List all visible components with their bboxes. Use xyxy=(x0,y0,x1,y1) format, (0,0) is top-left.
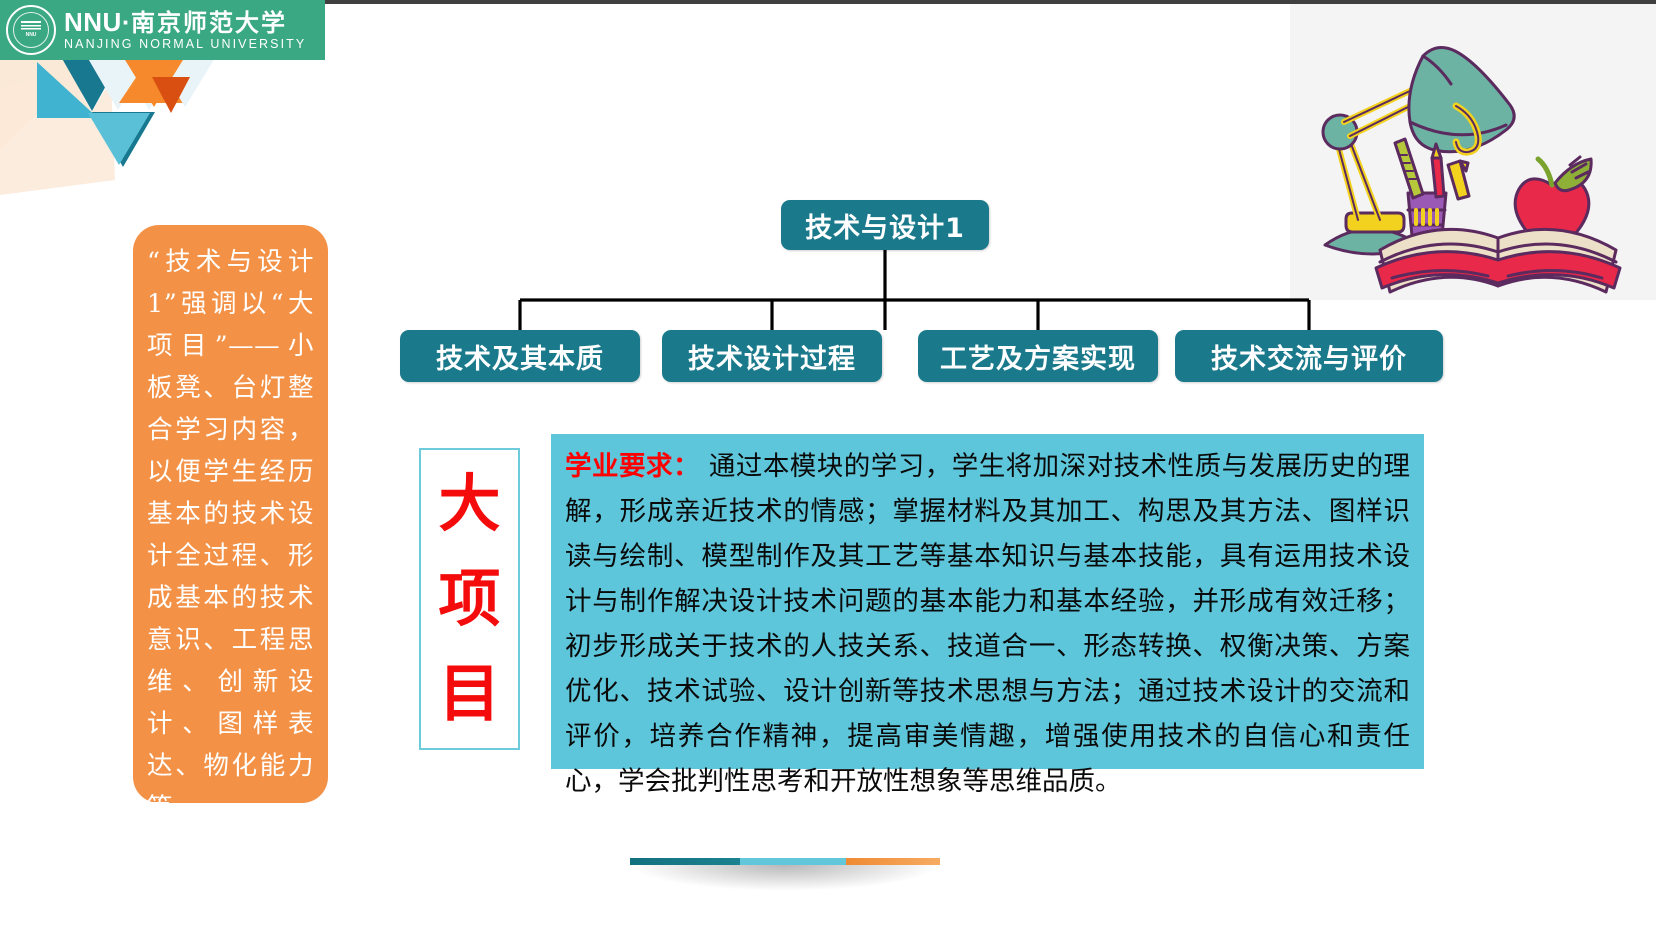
logo-name-cn: 南京师范大学 xyxy=(131,8,287,37)
logo-dot: · xyxy=(122,7,131,37)
flowchart: 技术与设计1 技术及其本质 技术设计过程 工艺及方案实现 技术交流与评价 xyxy=(390,190,1460,390)
callout-char-2: 项 xyxy=(438,568,500,630)
callout-char-3: 目 xyxy=(438,663,500,725)
flow-node-child-1[interactable]: 技术及其本质 xyxy=(400,330,640,382)
callout-char-1: 大 xyxy=(438,473,500,535)
university-logo-banner: NNU NNU·南京师范大学 NANJING NORMAL UNIVERSITY xyxy=(0,0,325,60)
footer-bar-shadow xyxy=(630,865,940,891)
big-project-callout: 大 项 目 xyxy=(419,448,520,750)
flow-node-root[interactable]: 技术与设计1 xyxy=(781,200,989,250)
logo-acronym: NNU xyxy=(64,7,122,37)
seal-label: NNU xyxy=(26,33,37,39)
footer-decoration-bar xyxy=(630,848,940,878)
footer-bar-segment-orange xyxy=(846,858,940,865)
flow-node-child-2[interactable]: 技术设计过程 xyxy=(662,330,882,382)
decorative-triangles xyxy=(0,55,340,215)
footer-bar-segment-cyan xyxy=(740,858,846,865)
academic-requirement-body: 通过本模块的学习，学生将加深对技术性质与发展历史的理解，形成亲近技术的情感；掌握… xyxy=(565,451,1410,797)
footer-bar-segment-teal xyxy=(630,858,740,865)
flow-node-child-4[interactable]: 技术交流与评价 xyxy=(1175,330,1443,382)
logo-name-en: NANJING NORMAL UNIVERSITY xyxy=(64,38,306,51)
academic-requirement-box: 学业要求： 通过本模块的学习，学生将加深对技术性质与发展历史的理解，形成亲近技术… xyxy=(551,434,1424,769)
academic-requirement-paragraph: 学业要求： 通过本模块的学习，学生将加深对技术性质与发展历史的理解，形成亲近技术… xyxy=(565,444,1410,804)
university-seal-icon: NNU xyxy=(6,5,56,55)
flow-node-child-3[interactable]: 工艺及方案实现 xyxy=(918,330,1158,382)
summary-card-text: “技术与设计1”强调以“大项目”——小板凳、台灯整合学习内容，以便学生经历基本的… xyxy=(147,241,314,829)
slide-canvas: NNU NNU·南京师范大学 NANJING NORMAL UNIVERSITY… xyxy=(0,0,1656,933)
university-logo-text: NNU·南京师范大学 NANJING NORMAL UNIVERSITY xyxy=(64,9,306,51)
summary-card: “技术与设计1”强调以“大项目”——小板凳、台灯整合学习内容，以便学生经历基本的… xyxy=(133,225,328,803)
academic-requirement-heading: 学业要求： xyxy=(565,451,700,482)
